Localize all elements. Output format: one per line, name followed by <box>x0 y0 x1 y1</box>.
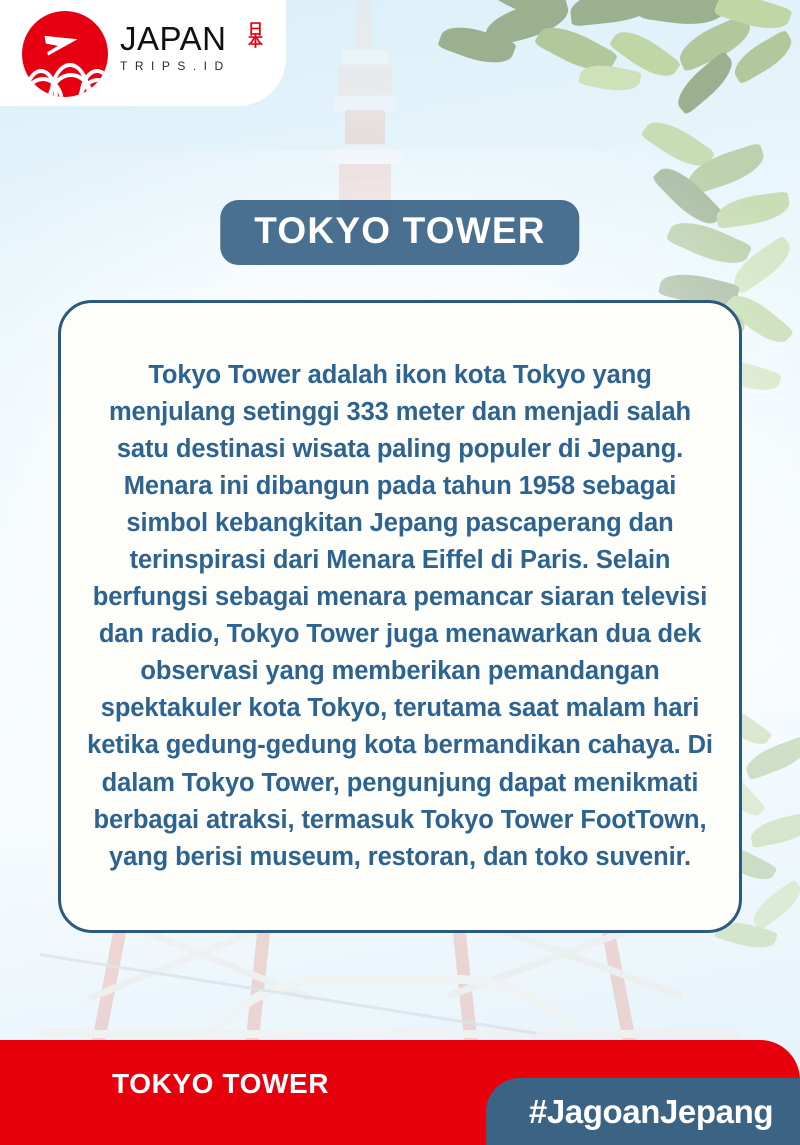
brand-logo-panel[interactable]: JAPAN 日本 TRIPS.ID <box>0 0 286 106</box>
poster-canvas: JAPAN 日本 TRIPS.ID TOKYO TOWER Tokyo Towe… <box>0 0 800 1145</box>
japan-trips-circle-logo-icon <box>22 11 108 97</box>
footer-title: TOKYO TOWER <box>112 1068 329 1100</box>
hashtag-badge[interactable]: #JagoanJepang <box>486 1078 800 1145</box>
brand-tagline: TRIPS.ID <box>120 59 280 73</box>
page-title-banner: TOKYO TOWER <box>220 200 579 265</box>
brand-wordmark: JAPAN 日本 TRIPS.ID <box>120 22 280 73</box>
description-card: Tokyo Tower adalah ikon kota Tokyo yang … <box>58 300 742 933</box>
page-title: TOKYO TOWER <box>254 212 545 251</box>
description-text: Tokyo Tower adalah ikon kota Tokyo yang … <box>87 357 713 876</box>
brand-kanji-icon: 日本 <box>248 23 262 47</box>
hashtag-label: #JagoanJepang <box>513 1093 773 1131</box>
